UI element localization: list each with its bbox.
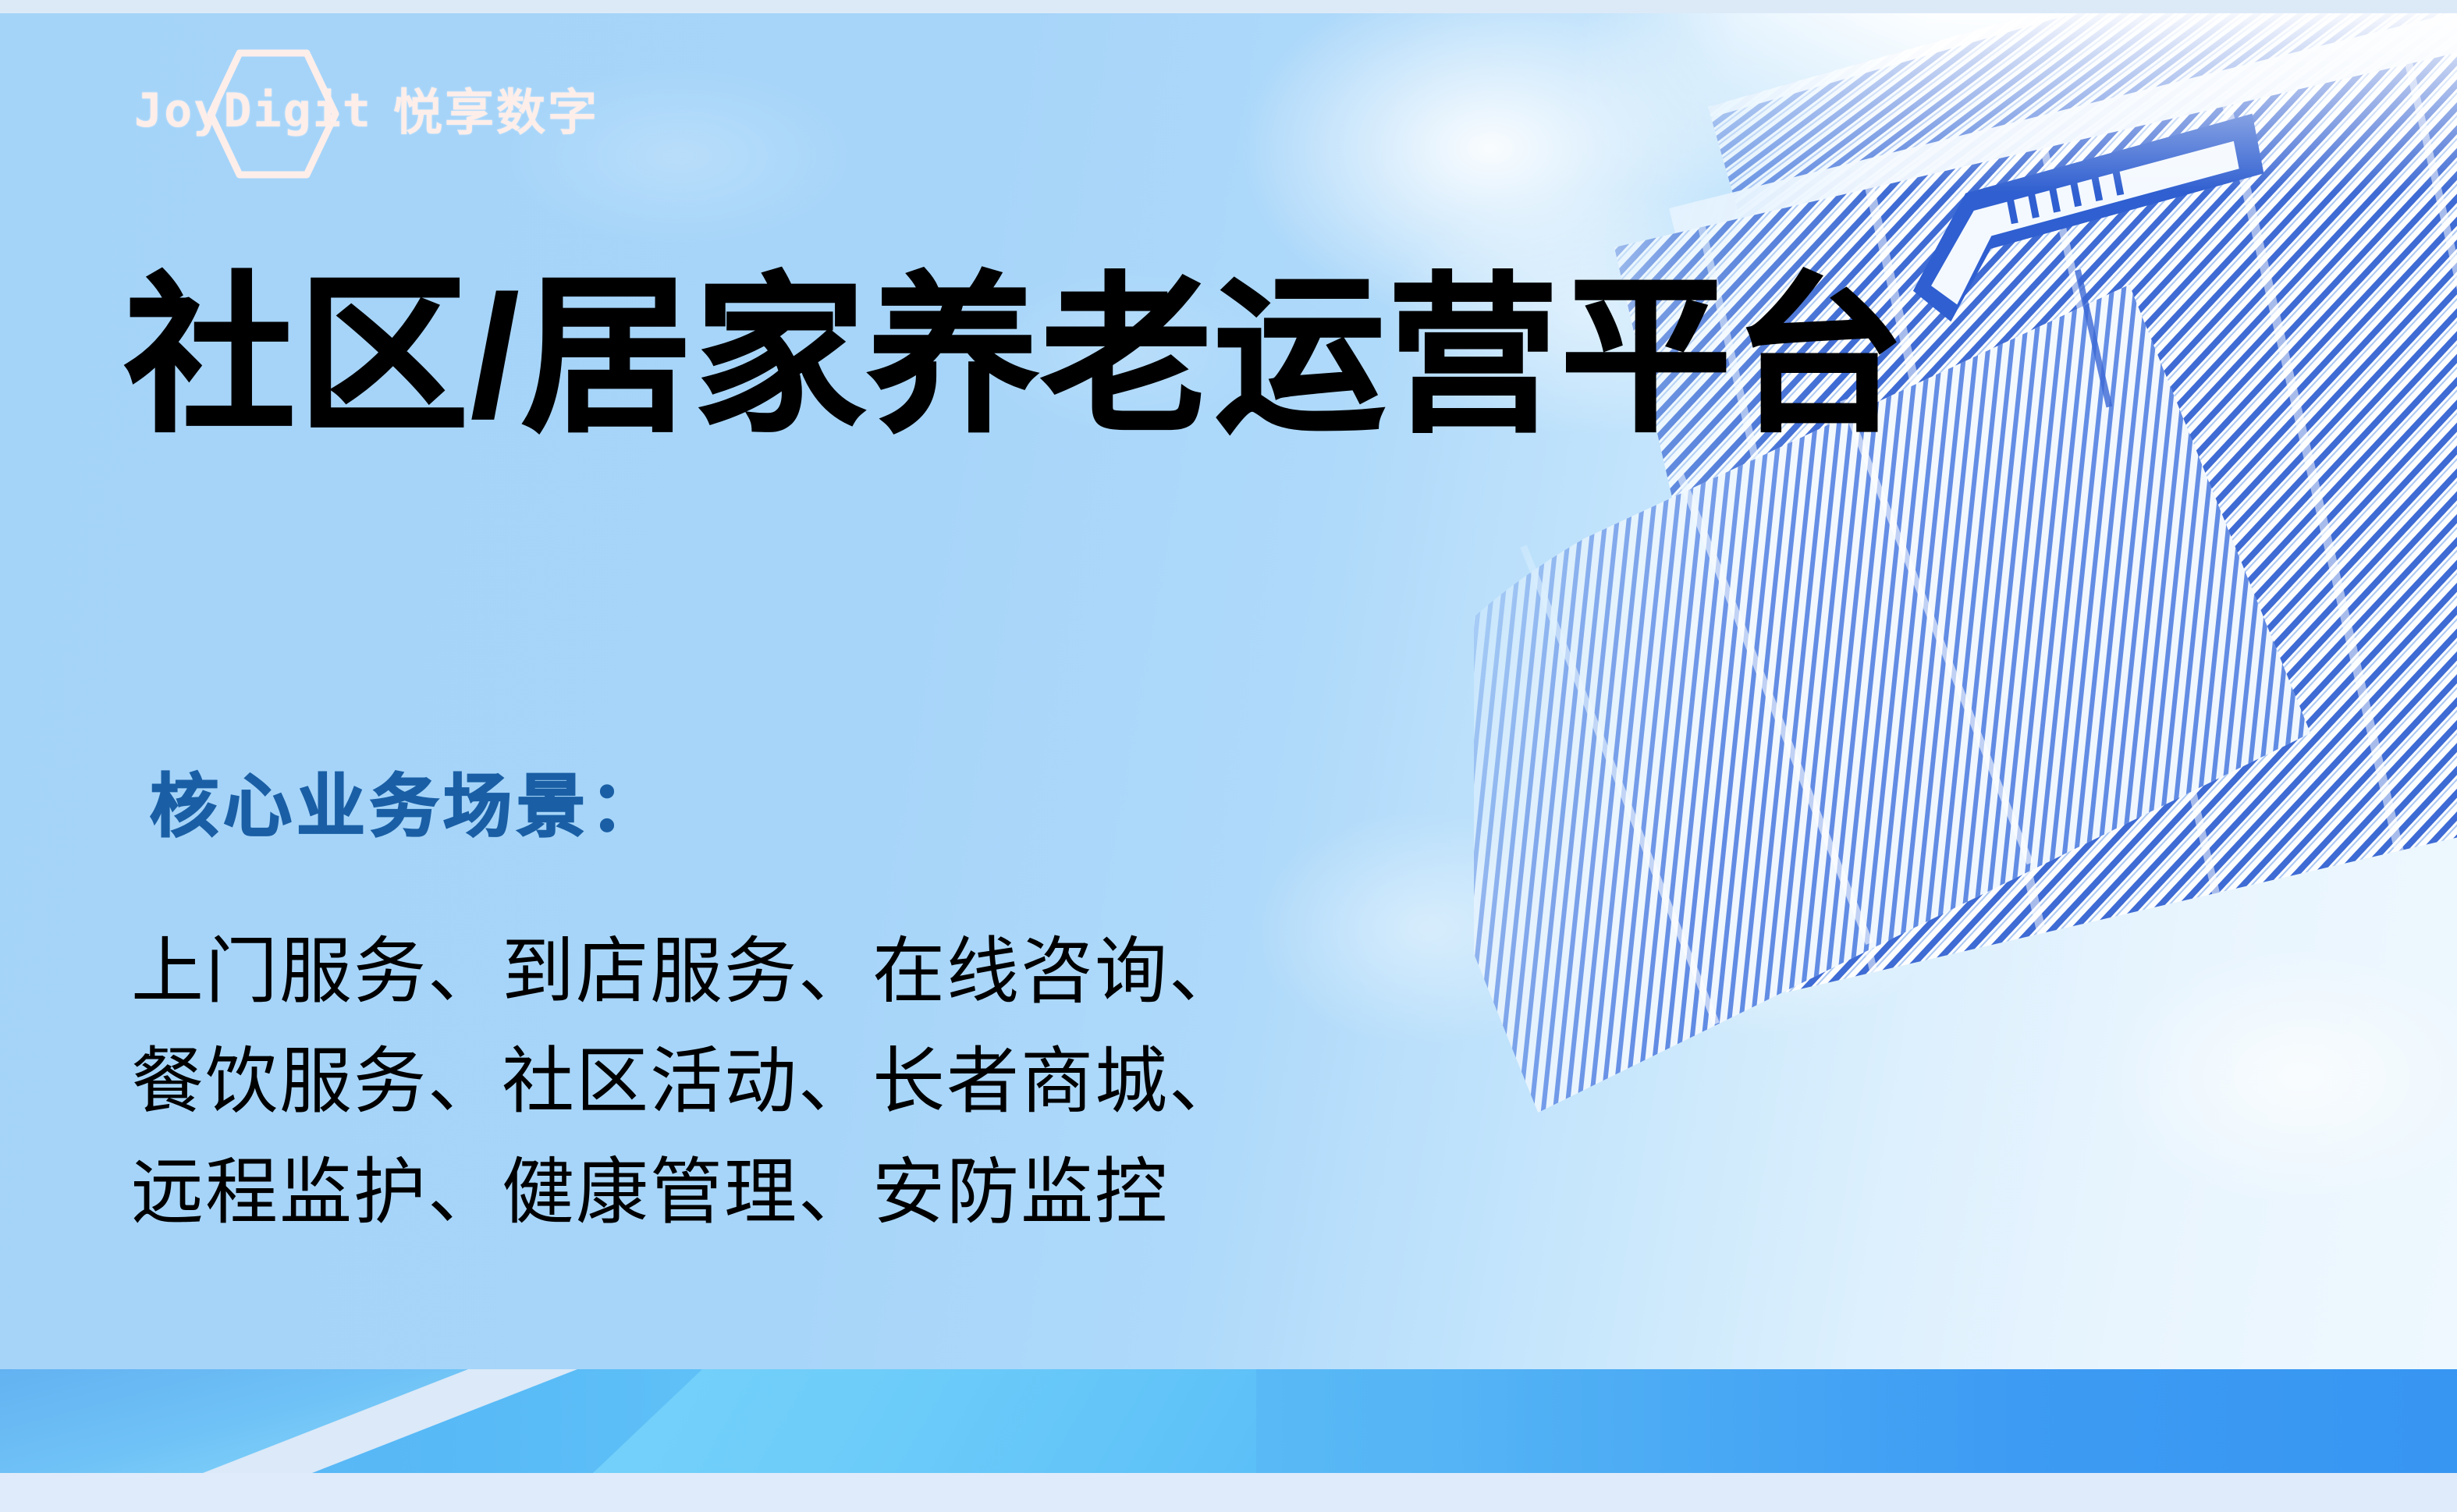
bottom-decoration-band [0, 1369, 2457, 1512]
brand-logo: JoyDigit 悦享数字 [134, 70, 599, 156]
scene-line: 上门服务、到店服务、在线咨询、 [131, 917, 1243, 1027]
logo-mark: JoyDigit [134, 70, 368, 156]
skyscraper-photo [1474, 13, 2457, 1375]
section-heading: 核心业务场景： [150, 772, 663, 841]
top-edge-strip [0, 0, 2457, 13]
scene-line: 远程监护、健康管理、安防监控 [131, 1138, 1243, 1248]
logo-wordmark: JoyDigit [134, 87, 372, 134]
page-title: 社区/居家养老运营平台 [125, 265, 1908, 449]
logo-chinese-name: 悦享数字 [393, 89, 599, 138]
slide-root: JoyDigit 悦享数字 社区/居家养老运营平台 核心业务场景： 上门服务、到… [0, 0, 2457, 1512]
scene-line: 餐饮服务、社区活动、长者商城、 [131, 1027, 1243, 1137]
scene-list: 上门服务、到店服务、在线咨询、 餐饮服务、社区活动、长者商城、 远程监护、健康管… [131, 917, 1243, 1248]
band-footer-strip [0, 1473, 2457, 1512]
